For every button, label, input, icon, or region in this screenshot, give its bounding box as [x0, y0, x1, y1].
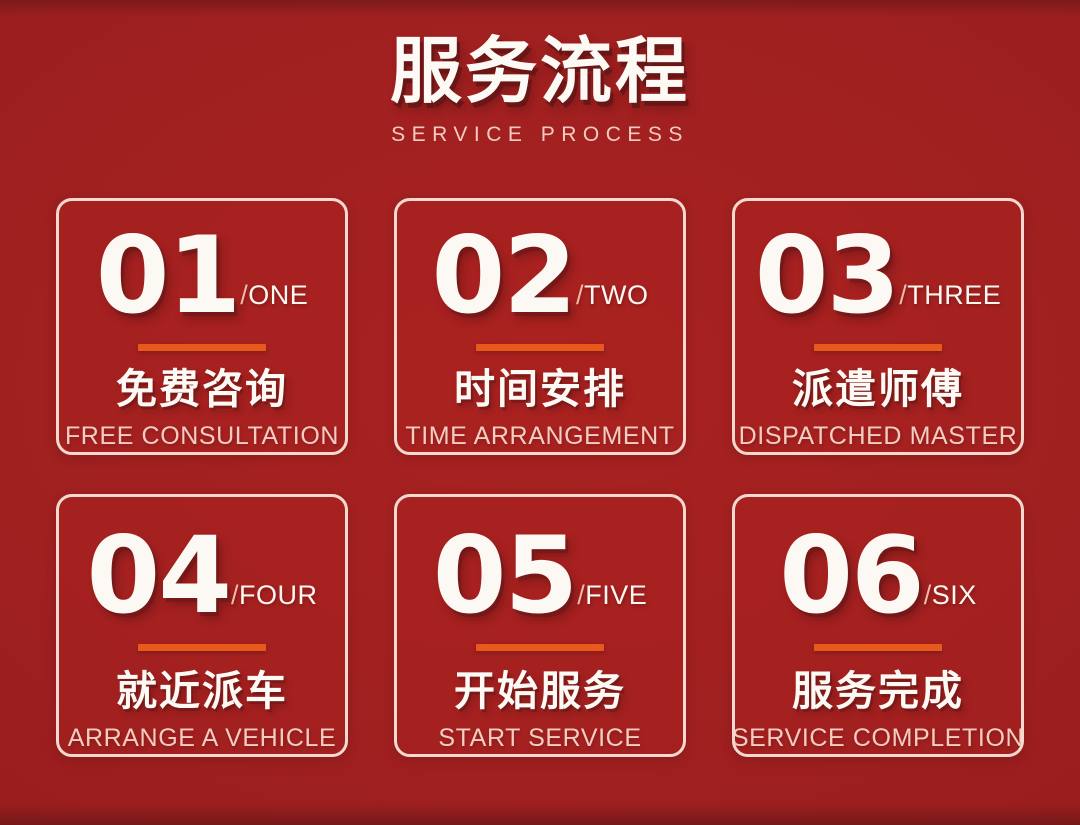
- step-number: 02: [431, 225, 575, 327]
- step-card-04: 04 /FOUR 就近派车 ARRANGE A VEHICLE: [56, 494, 348, 757]
- step-divider: [814, 644, 942, 651]
- step-divider: [138, 344, 266, 351]
- step-card-06: 06 /SIX 服务完成 SERVICE COMPLETION: [732, 494, 1024, 757]
- step-card-03: 03 /THREE 派遣师傅 DISPATCHED MASTER: [732, 198, 1024, 455]
- step-number: 05: [433, 525, 577, 627]
- step-number: 04: [86, 525, 230, 627]
- step-number-suffix: /THREE: [899, 280, 1001, 311]
- step-label-en: FREE CONSULTATION: [65, 422, 339, 451]
- step-ordinal-word: FOUR: [239, 580, 318, 610]
- step-card-05: 05 /FIVE 开始服务 START SERVICE: [394, 494, 686, 757]
- step-label-en: START SERVICE: [438, 724, 641, 753]
- steps-grid: 01 /ONE 免费咨询 FREE CONSULTATION 02 /TWO 时…: [56, 198, 1024, 757]
- step-number-suffix: /FIVE: [577, 580, 647, 611]
- step-number: 06: [779, 525, 923, 627]
- page-subtitle: SERVICE PROCESS: [0, 123, 1080, 147]
- step-label-cn: 免费咨询: [116, 367, 288, 413]
- step-label-cn: 时间安排: [454, 367, 626, 413]
- step-ordinal-word: FIVE: [585, 580, 647, 610]
- step-ordinal-word: THREE: [907, 280, 1001, 310]
- step-label-cn: 派遣师傅: [792, 367, 964, 413]
- page-title: 服务流程: [0, 34, 1080, 109]
- step-number-suffix: /FOUR: [231, 580, 318, 611]
- slash-glyph: /: [924, 580, 932, 610]
- step-number-suffix: /TWO: [576, 280, 649, 311]
- step-label-en: SERVICE COMPLETION: [732, 724, 1024, 753]
- step-divider: [476, 644, 604, 651]
- step-number-row: 02 /TWO: [397, 215, 683, 327]
- step-number-row: 05 /FIVE: [397, 515, 683, 627]
- slash-glyph: /: [231, 580, 239, 610]
- step-card-02: 02 /TWO 时间安排 TIME ARRANGEMENT: [394, 198, 686, 455]
- step-label-en: DISPATCHED MASTER: [739, 422, 1018, 451]
- step-divider: [814, 344, 942, 351]
- service-process-poster: 服务流程 SERVICE PROCESS 01 /ONE 免费咨询 FREE C…: [0, 0, 1080, 825]
- step-number-suffix: /SIX: [924, 580, 977, 611]
- step-number-row: 04 /FOUR: [59, 515, 345, 627]
- step-ordinal-word: TWO: [584, 280, 648, 310]
- step-divider: [476, 344, 604, 351]
- step-number: 01: [96, 225, 240, 327]
- step-number-row: 06 /SIX: [735, 515, 1021, 627]
- step-ordinal-word: SIX: [932, 580, 977, 610]
- step-label-en: ARRANGE A VEHICLE: [68, 724, 337, 753]
- poster-header: 服务流程 SERVICE PROCESS: [0, 34, 1080, 147]
- step-label-cn: 就近派车: [116, 669, 288, 715]
- step-number-row: 01 /ONE: [59, 215, 345, 327]
- step-label-cn: 开始服务: [454, 669, 626, 715]
- step-ordinal-word: ONE: [248, 280, 308, 310]
- step-number: 03: [755, 225, 899, 327]
- step-divider: [138, 644, 266, 651]
- step-number-row: 03 /THREE: [735, 215, 1021, 327]
- step-label-en: TIME ARRANGEMENT: [405, 422, 674, 451]
- step-card-01: 01 /ONE 免费咨询 FREE CONSULTATION: [56, 198, 348, 455]
- step-label-cn: 服务完成: [792, 669, 964, 715]
- step-number-suffix: /ONE: [240, 280, 308, 311]
- slash-glyph: /: [576, 280, 584, 310]
